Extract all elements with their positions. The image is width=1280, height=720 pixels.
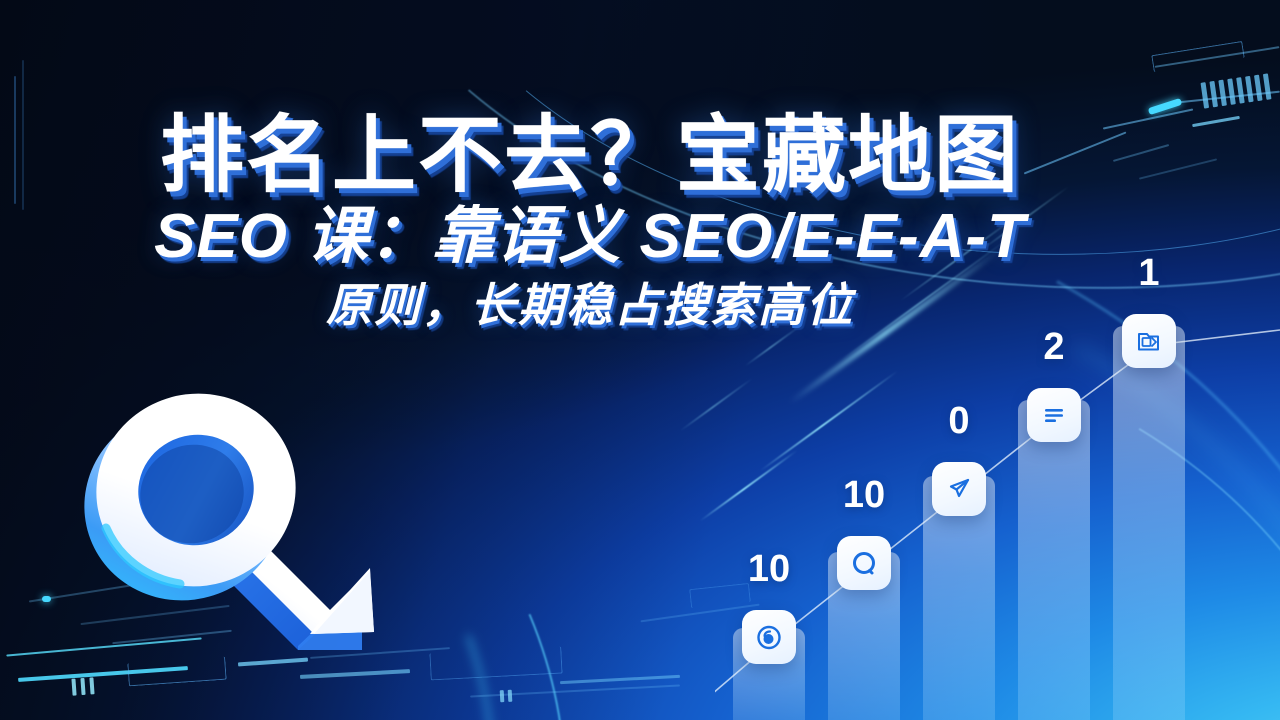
chart-bar (1113, 326, 1185, 720)
title-line-1: 排名上不去？宝藏地图 (0, 112, 1180, 199)
text-lines-icon (1027, 388, 1081, 442)
chart-node-value: 10 (748, 550, 790, 588)
bar-chart: 10 10 0 (715, 300, 1280, 720)
target-swirl-icon (742, 610, 796, 664)
chart-node-value: 10 (843, 476, 885, 514)
poster-title-block: 排名上不去？宝藏地图 SEO 课：靠语义 SEO/E-E-A-T 原则，长期稳占… (0, 112, 1180, 330)
title-line-2: SEO 课：靠语义 SEO/E-E-A-T (0, 203, 1180, 271)
chart-bar (1018, 400, 1090, 720)
chart-node-value: 0 (948, 402, 969, 440)
magnifying-glass-arrow-icon (62, 378, 402, 678)
send-plane-icon (932, 462, 986, 516)
seo-course-poster: 排名上不去？宝藏地图 SEO 课：靠语义 SEO/E-E-A-T 原则，长期稳占… (0, 0, 1280, 720)
chart-node-value: 2 (1043, 328, 1064, 366)
title-line-3: 原则，长期稳占搜索高位 (0, 280, 1180, 331)
circle-ring-icon (837, 536, 891, 590)
